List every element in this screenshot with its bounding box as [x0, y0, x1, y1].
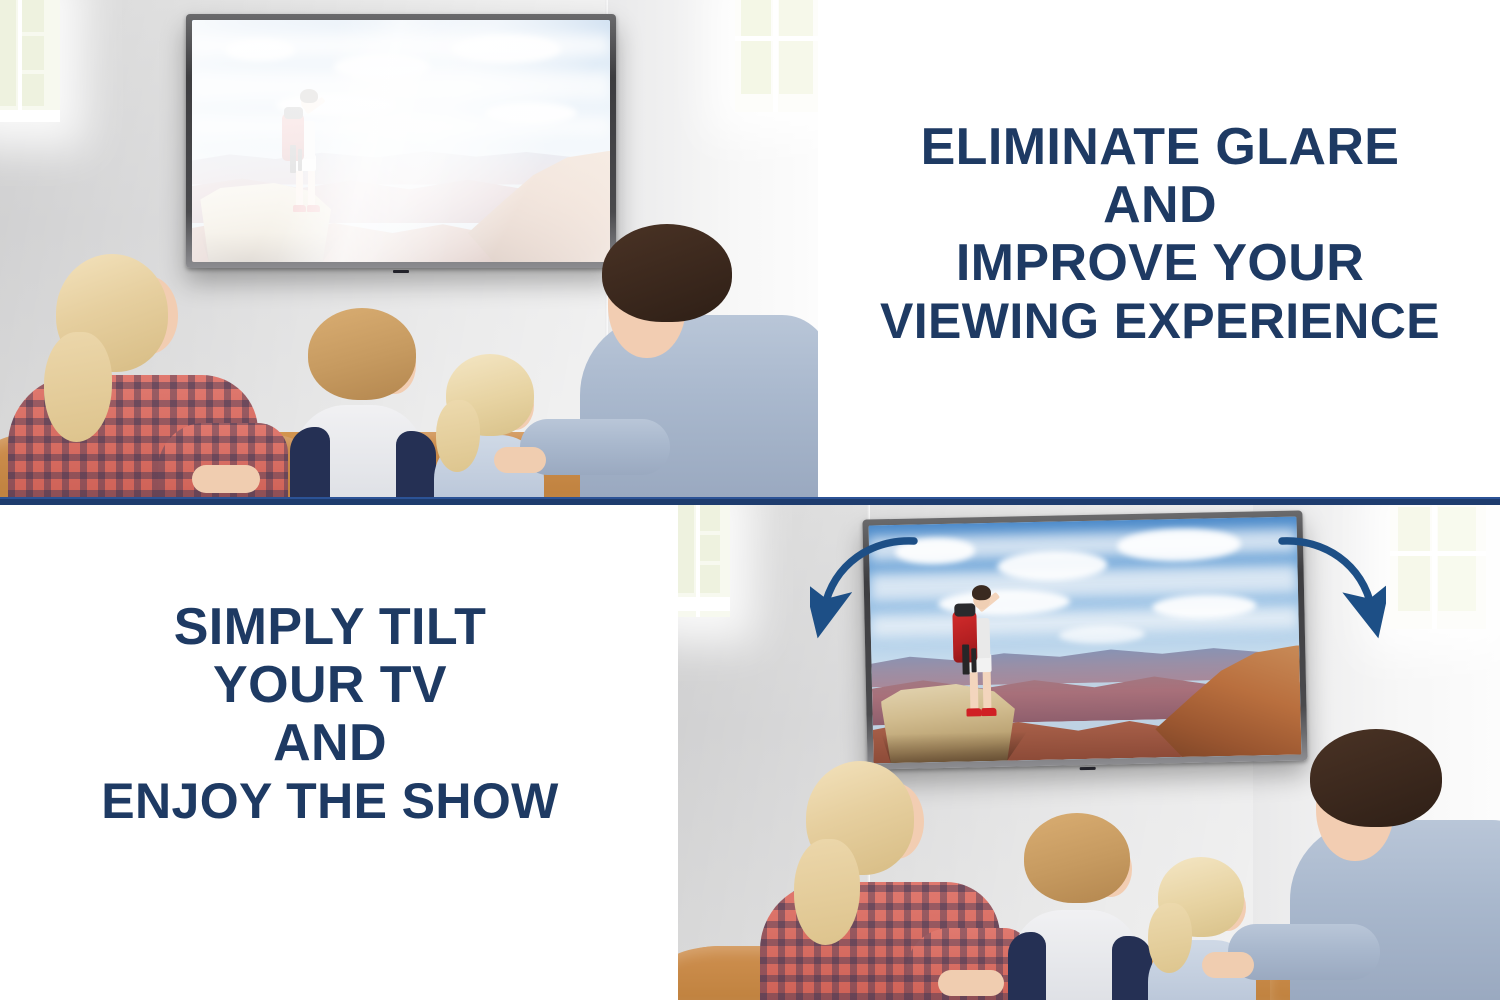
- marketing-banner: ELIMINATE GLARE AND IMPROVE YOUR VIEWING…: [0, 0, 1500, 1000]
- tilt-arrow-left: [810, 531, 920, 639]
- headline-bottom-line-3: AND: [0, 714, 660, 772]
- living-room-photo-glare: [0, 0, 818, 497]
- headline-bottom-line-2: YOUR TV: [0, 656, 660, 714]
- window-right: [735, 0, 818, 112]
- solution-panel: SIMPLY TILT YOUR TV AND ENJOY THE SHOW: [0, 505, 1500, 1000]
- tv-content-canyon: [869, 517, 1302, 764]
- panel-divider: [0, 497, 1500, 505]
- headline-top-line-1: ELIMINATE GLARE: [820, 118, 1500, 176]
- window-left: [678, 505, 730, 617]
- window-right: [1390, 505, 1486, 629]
- hiker-figure: [276, 83, 334, 219]
- tv-screen-clear: [869, 517, 1302, 764]
- headline-top-line-3: IMPROVE YOUR: [820, 234, 1500, 292]
- hiker-figure: [947, 580, 1012, 723]
- tv-brand-logo: [1080, 767, 1096, 770]
- window-left: [0, 0, 60, 122]
- tv-brand-logo: [393, 270, 409, 273]
- headline-top-line-2: AND: [820, 176, 1500, 234]
- problem-panel: ELIMINATE GLARE AND IMPROVE YOUR VIEWING…: [0, 0, 1500, 497]
- headline-bottom-line-4: ENJOY THE SHOW: [0, 773, 660, 829]
- person-father: [1250, 731, 1500, 1000]
- person-boy: [1008, 807, 1156, 1000]
- headline-top: ELIMINATE GLARE AND IMPROVE YOUR VIEWING…: [820, 118, 1500, 349]
- person-father: [540, 226, 818, 497]
- person-mother: [760, 761, 1020, 1000]
- living-room-photo-clear: [678, 505, 1500, 1000]
- tilt-arrow-right: [1276, 531, 1386, 639]
- person-boy: [290, 300, 440, 497]
- headline-bottom-line-1: SIMPLY TILT: [0, 598, 660, 656]
- headline-top-line-4: VIEWING EXPERIENCE: [820, 293, 1500, 349]
- wall-mounted-tv-tilted: [862, 510, 1307, 769]
- person-mother: [8, 252, 278, 497]
- headline-bottom: SIMPLY TILT YOUR TV AND ENJOY THE SHOW: [0, 598, 660, 829]
